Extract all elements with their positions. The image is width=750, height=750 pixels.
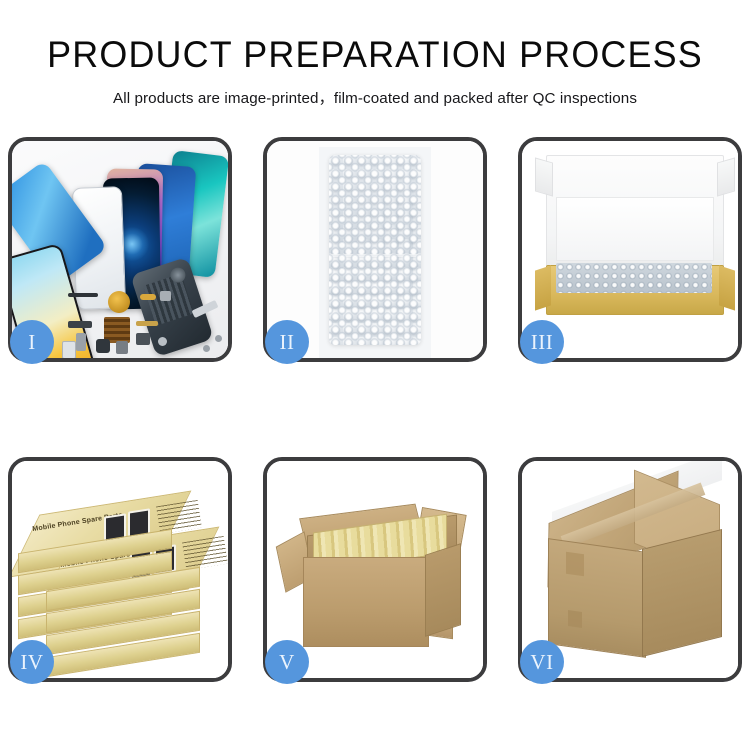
step-badge-1: I [10, 320, 54, 364]
spare-part [76, 333, 86, 351]
box-print-specs [156, 500, 202, 534]
process-step-panel: VI [518, 457, 742, 682]
spare-part-screw [203, 345, 210, 352]
product-preparation-infographic: PRODUCT PREPARATION PROCESS All products… [0, 0, 750, 750]
spare-part-screw [215, 335, 222, 342]
step-badge-6: VI [520, 640, 564, 684]
page-subtitle: All products are image-printed，film-coat… [0, 75, 750, 108]
step-badge-4: IV [10, 640, 54, 684]
box-print-specs [182, 536, 228, 570]
spare-part-flex [136, 321, 158, 326]
process-step-panel: III [518, 137, 742, 362]
bubble-wrap-pouch [329, 155, 421, 345]
process-step-grid: 21:08 [8, 137, 742, 685]
step-badge-3: III [520, 320, 564, 364]
spare-part [140, 294, 156, 300]
process-step-panel: 21:08 [8, 137, 232, 362]
carton-tab [568, 610, 582, 628]
spare-part [68, 293, 98, 297]
spare-part [96, 339, 110, 353]
pouch-seam [329, 254, 421, 257]
carton-front-face [303, 557, 429, 647]
spare-part [62, 341, 76, 358]
carton-side-face [425, 543, 461, 637]
kraft-box-stack: Mobile Phone Spare Parts Mobile Phone Sp… [18, 479, 224, 665]
spare-part [68, 321, 92, 328]
bubble-wrapped-product [556, 263, 712, 293]
spare-part [136, 333, 150, 345]
header: PRODUCT PREPARATION PROCESS All products… [0, 0, 750, 108]
mailer-foam-liner [556, 197, 714, 261]
carton-front-face [548, 538, 646, 658]
spare-part [116, 341, 128, 354]
carton-tab [566, 552, 584, 577]
spare-part-screw [158, 337, 167, 346]
step-badge-5: V [265, 640, 309, 684]
page-title: PRODUCT PREPARATION PROCESS [11, 0, 739, 75]
spare-part [160, 291, 171, 301]
step-badge-2: II [265, 320, 309, 364]
spare-part-speaker [108, 291, 130, 313]
process-step-panel: V [263, 457, 487, 682]
process-step-panel: II [263, 137, 487, 362]
carton-right-face [642, 529, 722, 657]
process-step-panel: Mobile Phone Spare Parts Mobile Phone Sp… [8, 457, 232, 682]
